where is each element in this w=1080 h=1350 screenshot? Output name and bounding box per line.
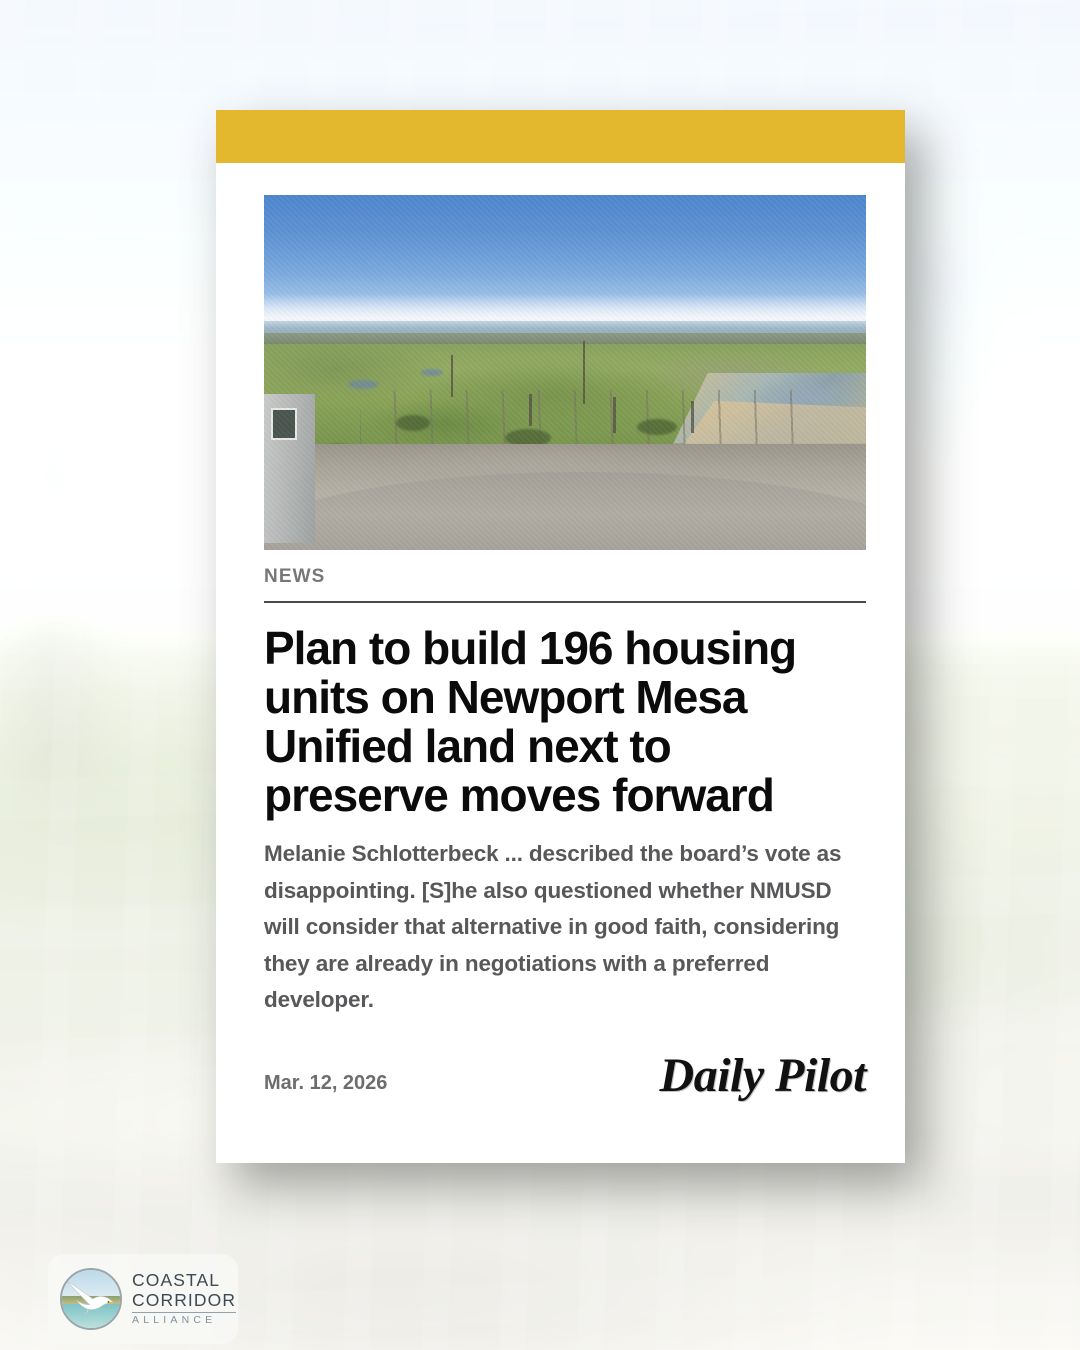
bird-logo-icon xyxy=(60,1268,122,1330)
source-logo: Daily Pilot xyxy=(660,1052,866,1100)
card-body: NEWS Plan to build 196 housing units on … xyxy=(216,163,905,1100)
tern-bird-icon xyxy=(64,1278,117,1320)
badge-line-3: ALLIANCE xyxy=(132,1315,236,1326)
badge-wordmark: COASTAL CORRIDOR ALLIANCE xyxy=(132,1272,236,1326)
photo-grain-overlay xyxy=(264,195,866,550)
article-headline: Plan to build 196 housing units on Newpo… xyxy=(264,624,864,820)
badge-underline xyxy=(132,1312,236,1313)
article-summary: Melanie Schlotterbeck ... described the … xyxy=(264,836,864,1019)
news-card[interactable]: NEWS Plan to build 196 housing units on … xyxy=(216,110,905,1163)
accent-bar xyxy=(216,110,905,163)
badge-line-1: COASTAL xyxy=(132,1272,236,1290)
card-footer: Mar. 12, 2026 Daily Pilot xyxy=(264,1052,866,1100)
brand-badge[interactable]: COASTAL CORRIDOR ALLIANCE xyxy=(48,1254,238,1344)
badge-line-2: CORRIDOR xyxy=(132,1292,236,1310)
publish-date: Mar. 12, 2026 xyxy=(264,1072,387,1100)
article-photo xyxy=(264,195,866,550)
category-kicker: NEWS xyxy=(264,566,857,588)
divider-rule xyxy=(264,601,866,603)
poster-canvas: NEWS Plan to build 196 housing units on … xyxy=(0,0,1080,1350)
